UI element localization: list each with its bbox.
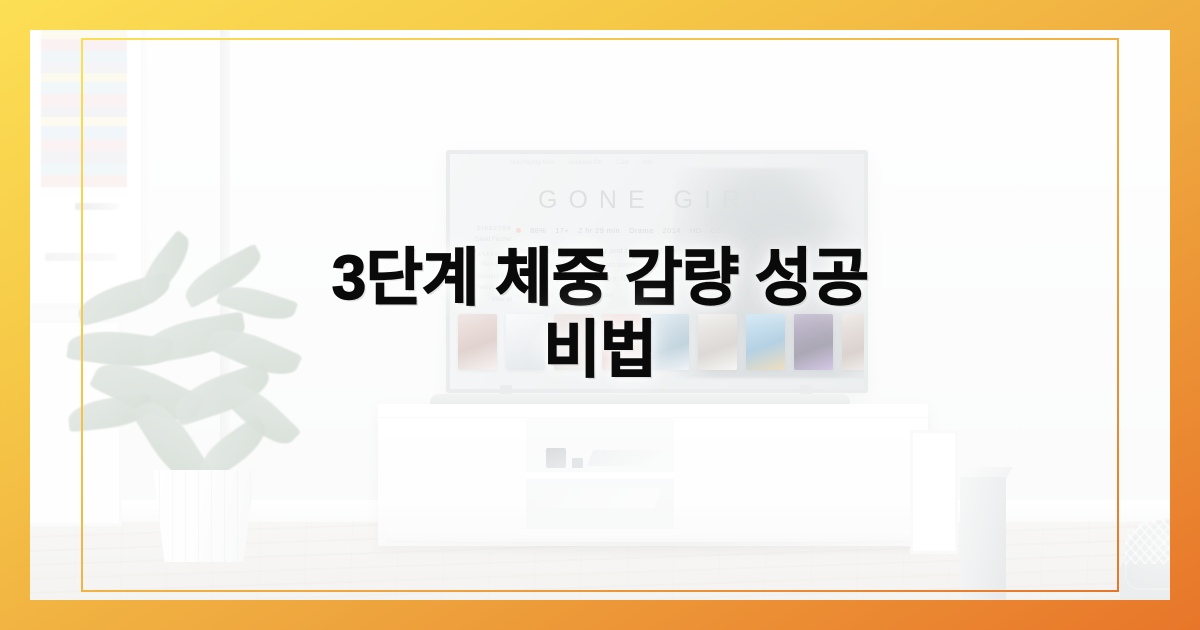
thumbnail-card: Not Playing Now Available On Cast Info G…	[0, 0, 1200, 630]
title-overlay: 3단계 체중 감량 성공 비법	[30, 30, 1170, 600]
photo-plate: Not Playing Now Available On Cast Info G…	[30, 30, 1170, 600]
page-title: 3단계 체중 감량 성공 비법	[332, 243, 868, 387]
